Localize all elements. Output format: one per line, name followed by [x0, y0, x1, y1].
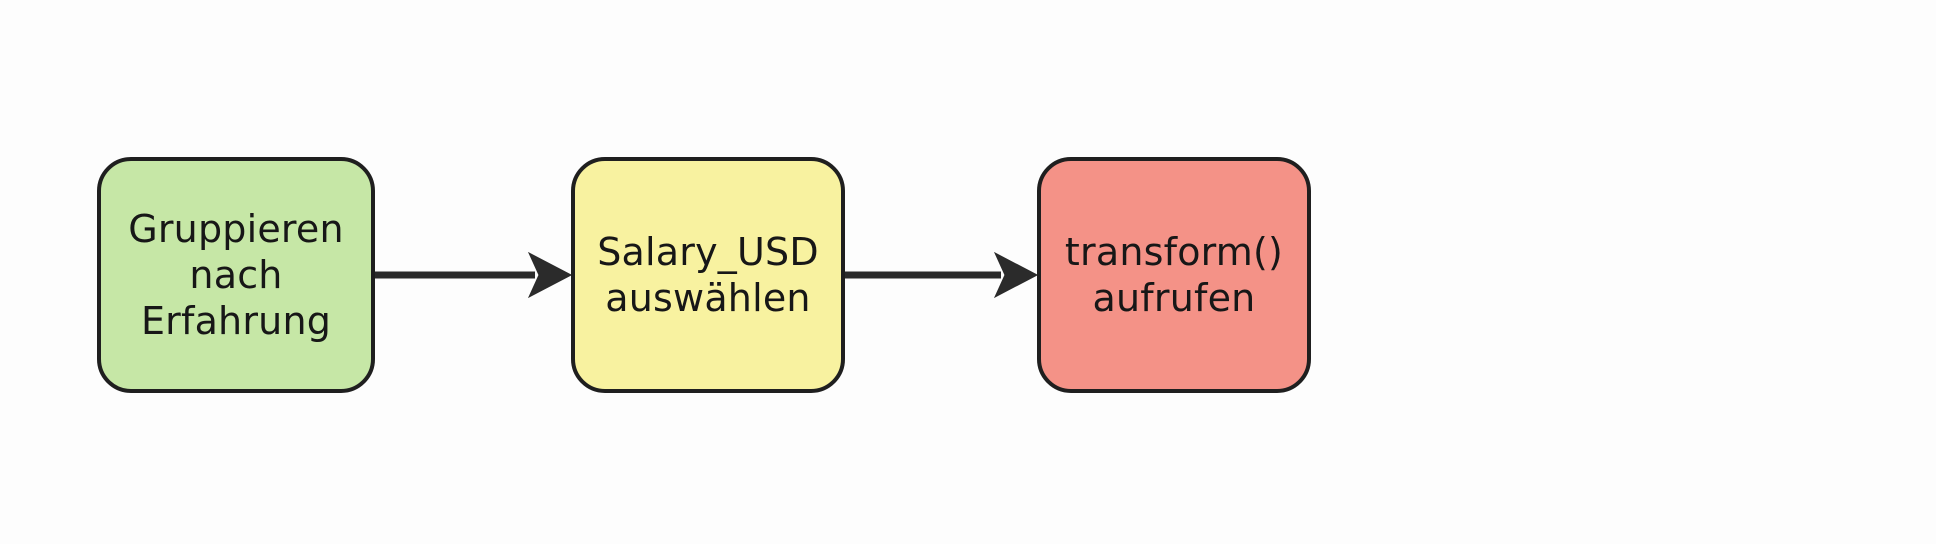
diagram-canvas: Gruppieren nach Erfahrung Salary_USD aus… [0, 0, 1936, 544]
flow-node-transform-label: transform() aufrufen [1065, 229, 1283, 321]
flow-edge-1-arrow [375, 247, 571, 303]
flow-node-salary-usd[interactable]: Salary_USD auswählen [571, 157, 845, 393]
flow-edge-2-arrow [845, 247, 1037, 303]
flow-node-gruppieren[interactable]: Gruppieren nach Erfahrung [97, 157, 375, 393]
flow-node-gruppieren-label: Gruppieren nach Erfahrung [111, 206, 361, 344]
flow-node-transform[interactable]: transform() aufrufen [1037, 157, 1311, 393]
flow-node-salary-usd-label: Salary_USD auswählen [597, 229, 819, 321]
flowchart-row: Gruppieren nach Erfahrung Salary_USD aus… [97, 157, 1311, 393]
